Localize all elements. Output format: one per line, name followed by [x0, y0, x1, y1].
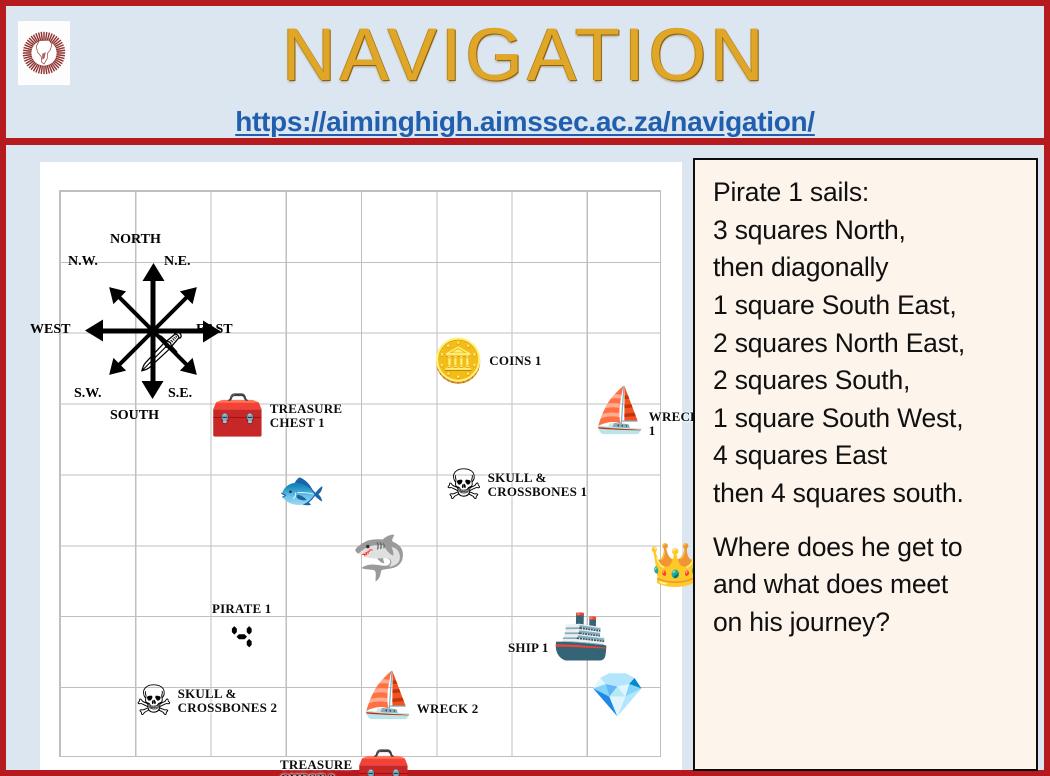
compass-label-south-east: S.E.	[168, 386, 192, 402]
instruction-line: Pirate 1 sails:	[713, 174, 1026, 212]
compass-label-west: WEST	[30, 322, 70, 338]
instruction-line: 4 squares East	[713, 437, 1026, 475]
instructions-panel: Pirate 1 sails:3 squares North,then diag…	[693, 158, 1038, 771]
question-line: on his journey?	[713, 604, 1026, 642]
compass-label-north: NORTH	[110, 232, 161, 248]
site-url-link[interactable]: https://aiminghigh.aimssec.ac.za/navigat…	[6, 106, 1044, 138]
instruction-line: 2 squares North East,	[713, 325, 1026, 363]
compass-arm-west	[99, 329, 153, 334]
compass-label-south: SOUTH	[110, 408, 159, 424]
question-line: and what does meet	[713, 566, 1026, 604]
compass-label-north-west: N.W.	[68, 254, 98, 270]
question-line: Where does he get to	[713, 529, 1026, 567]
compass-label-north-east: N.E.	[164, 254, 190, 270]
panel-spacer	[713, 513, 1026, 529]
compass-arm-north-east	[152, 294, 190, 332]
compass-arm-south-west	[116, 330, 154, 368]
compass-arm-south	[151, 331, 156, 385]
instruction-line: 3 squares North,	[713, 212, 1026, 250]
compass-arm-north	[151, 277, 156, 331]
sailing-instructions: Pirate 1 sails:3 squares North,then diag…	[713, 174, 1026, 513]
compass-label-east: EAST	[196, 322, 233, 338]
instruction-line: 2 squares South,	[713, 362, 1026, 400]
instruction-line: 1 square South West,	[713, 400, 1026, 438]
compass-arm-north-west	[116, 294, 154, 332]
treasure-chest-2-label: TREASURE CHEST 2	[280, 758, 352, 776]
instruction-line: then diagonally	[713, 249, 1026, 287]
compass-label-south-west: S.W.	[74, 386, 102, 402]
question-text: Where does he get toand what does meeton…	[713, 529, 1026, 642]
instruction-line: then 4 squares south.	[713, 475, 1026, 513]
compass-rose: NORTH N.E. EAST S.E. SOUTH S.W. WEST N.W…	[78, 256, 228, 406]
instruction-line: 1 square South East,	[713, 287, 1026, 325]
slide-root: NAVIGATION https://aiminghigh.aimssec.ac…	[0, 0, 1050, 776]
page-title: NAVIGATION	[6, 12, 1044, 97]
compass-arm-south-east	[152, 330, 190, 368]
treasure-map: NORTH N.E. EAST S.E. SOUTH S.W. WEST N.W…	[40, 162, 682, 770]
header-banner: NAVIGATION https://aiminghigh.aimssec.ac…	[6, 6, 1044, 145]
